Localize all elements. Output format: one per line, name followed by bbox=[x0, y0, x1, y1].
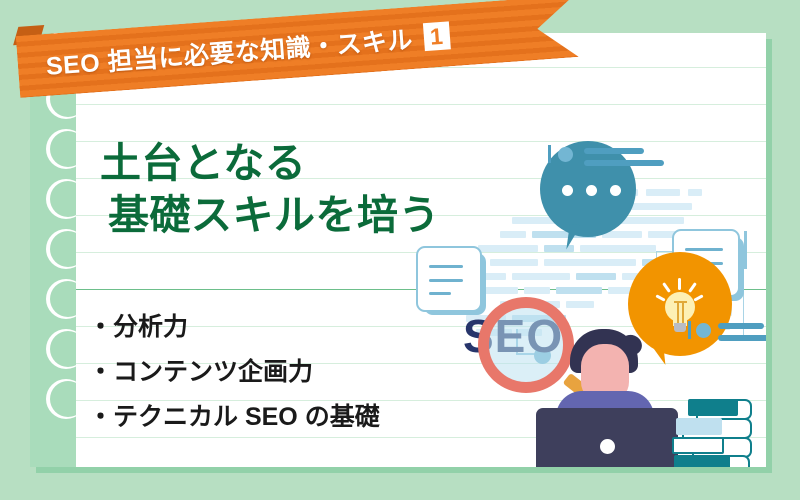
magnifier-icon bbox=[478, 297, 574, 393]
laptop-logo bbox=[600, 439, 615, 454]
bubble-tail bbox=[643, 337, 666, 367]
legend-bar-icon bbox=[548, 145, 551, 163]
legend-dot-icon bbox=[696, 323, 711, 338]
speech-bubble-orange-icon bbox=[628, 252, 732, 356]
document-card-icon bbox=[416, 246, 482, 312]
legend-line bbox=[584, 148, 644, 154]
speech-bubble-teal-icon bbox=[540, 141, 636, 237]
notebook-paper: SEO bbox=[30, 33, 766, 467]
list-item: ・分析力 bbox=[88, 305, 380, 350]
ribbon-number-badge: 1 bbox=[423, 21, 451, 51]
card-accent-bar bbox=[744, 231, 747, 269]
laptop-icon bbox=[536, 408, 678, 467]
headline-line-2: 基礎スキルを培う bbox=[108, 189, 440, 241]
spiral-binding bbox=[30, 33, 76, 467]
lightbulb-icon bbox=[661, 278, 699, 334]
legend-line bbox=[718, 323, 764, 329]
headline-line-1: 土台となる bbox=[100, 137, 440, 189]
skill-list: ・分析力 ・コンテンツ企画力 ・テクニカル SEO の基礎 bbox=[88, 305, 380, 439]
legend-bar-icon bbox=[688, 321, 691, 339]
list-item: ・コンテンツ企画力 bbox=[88, 350, 380, 395]
poster-canvas: SEO bbox=[0, 0, 800, 500]
page-title: 土台となる 基礎スキルを培う bbox=[100, 137, 440, 242]
legend-line bbox=[584, 160, 664, 166]
rule-line bbox=[30, 104, 766, 105]
legend-line bbox=[718, 335, 766, 341]
legend-dot-icon bbox=[558, 147, 573, 162]
list-item: ・テクニカル SEO の基礎 bbox=[88, 395, 380, 440]
seo-illustration: SEO bbox=[460, 133, 766, 467]
bubble-tail bbox=[566, 224, 589, 253]
ellipsis-icon bbox=[562, 185, 621, 196]
